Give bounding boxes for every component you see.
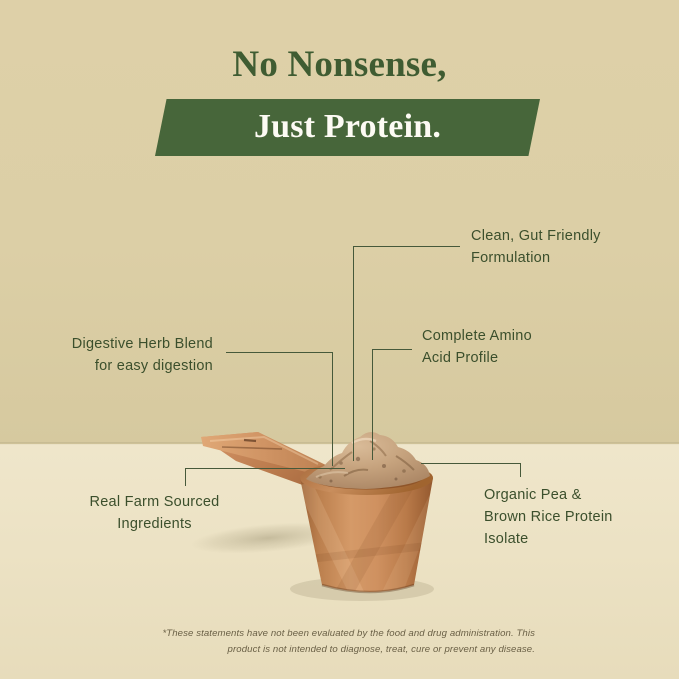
connector-line-isolate-horizontal: [421, 463, 521, 464]
headline-line-1: No Nonsense,: [0, 46, 679, 85]
connector-line-farm-vertical: [185, 468, 186, 486]
callout-complete-amino-acid-profile: Complete Amino Acid Profile: [422, 325, 622, 369]
connector-line-clean-vertical: [353, 246, 354, 461]
connector-line-amino-horizontal: [372, 349, 412, 350]
connector-line-isolate-vertical: [520, 463, 521, 477]
connector-line-amino-vertical: [372, 349, 373, 460]
connector-line-herb-horizontal: [226, 352, 333, 353]
surface-horizon-line: [0, 442, 679, 445]
headline-banner: Just Protein.: [155, 99, 540, 156]
banner-label: Just Protein.: [155, 99, 540, 156]
fda-disclaimer-text: *These statements have not been evaluate…: [145, 626, 535, 657]
promo-image-canvas: No Nonsense, Just Protein.: [0, 0, 679, 679]
callout-organic-pea-brown-rice-isolate: Organic Pea & Brown Rice Protein Isolate: [484, 484, 659, 550]
callout-real-farm-sourced-ingredients: Real Farm Sourced Ingredients: [52, 491, 257, 535]
callout-digestive-herb-blend: Digestive Herb Blend for easy digestion: [38, 333, 213, 377]
connector-line-herb-vertical: [332, 352, 333, 466]
connector-line-clean-horizontal: [353, 246, 460, 247]
callout-clean-gut-friendly-formulation: Clean, Gut Friendly Formulation: [471, 225, 671, 269]
connector-line-farm-horizontal: [185, 468, 345, 469]
